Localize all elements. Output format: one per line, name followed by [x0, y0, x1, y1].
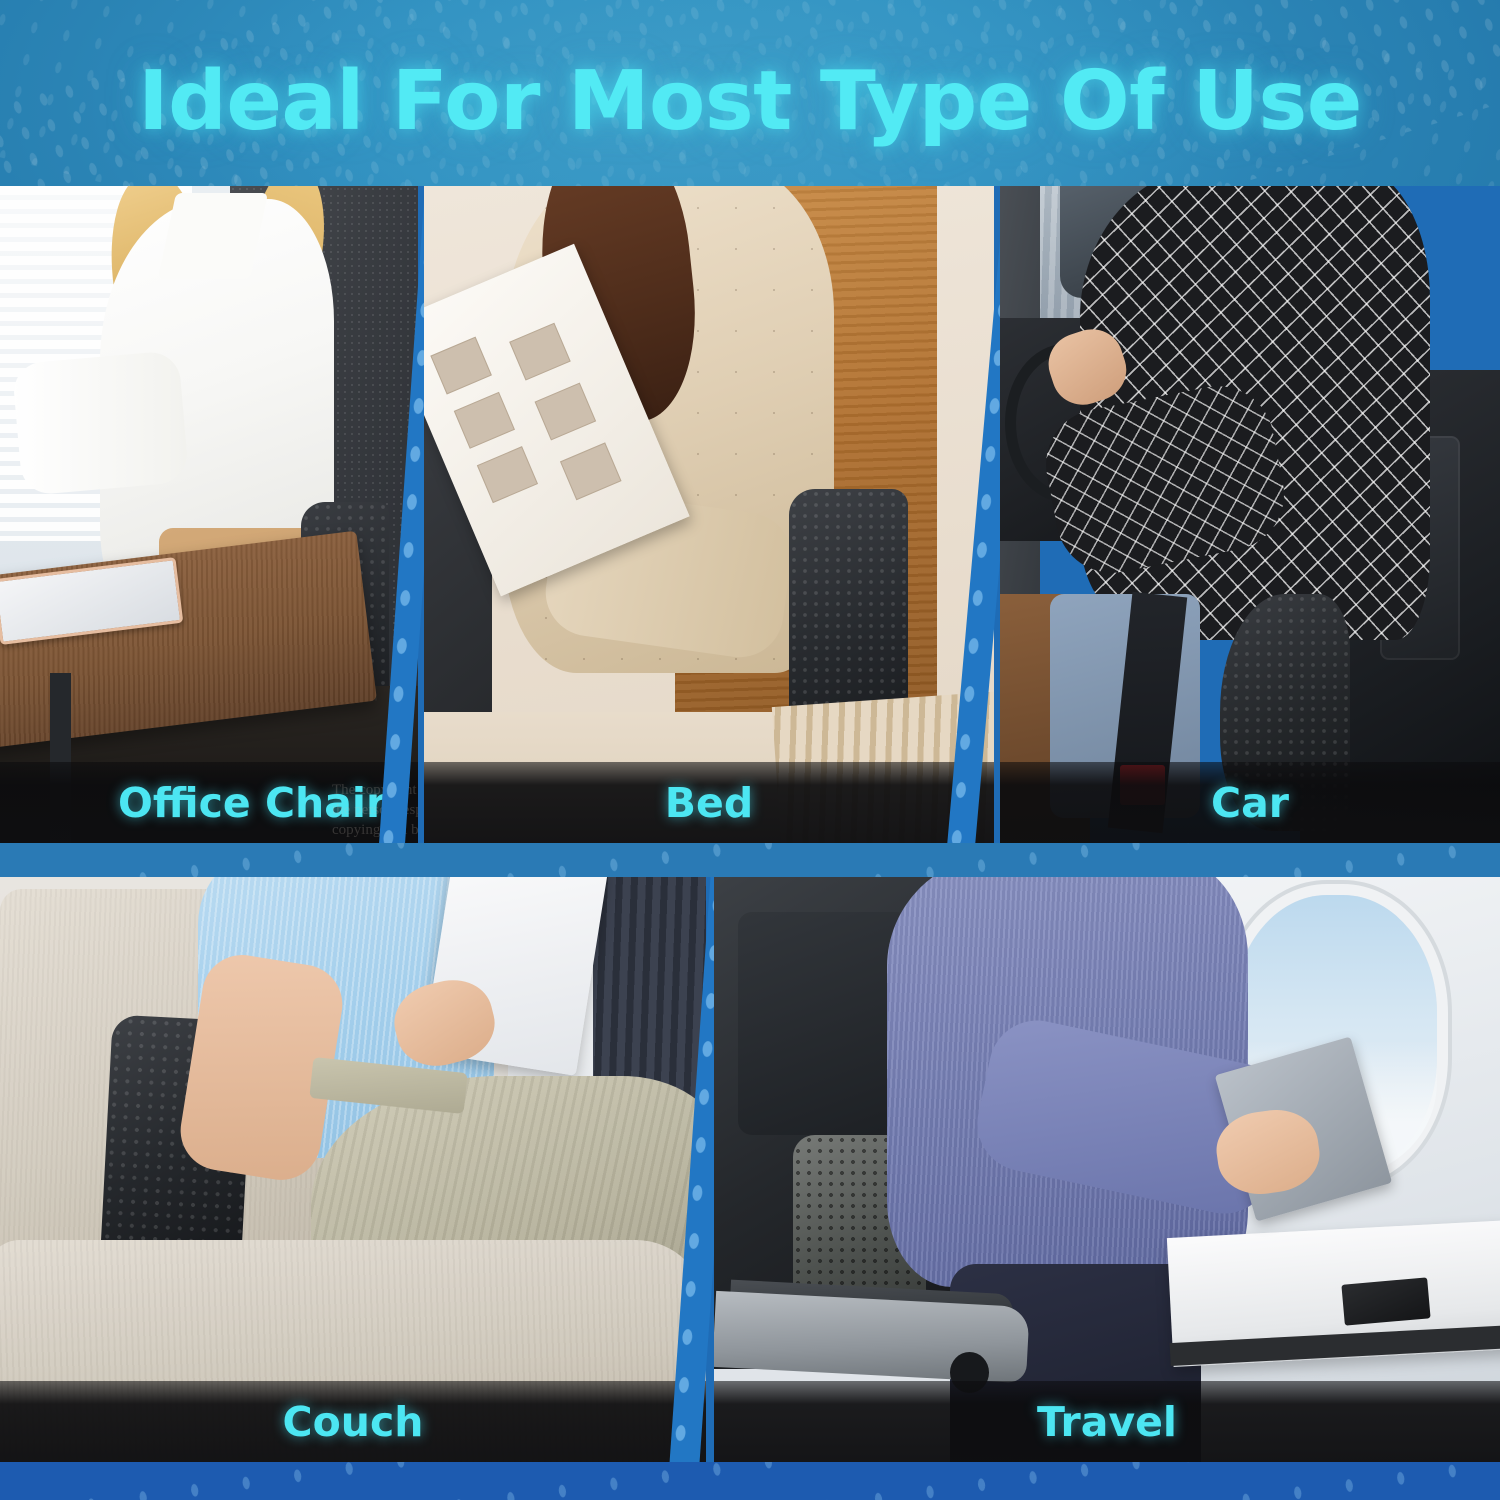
scene-couch	[0, 877, 706, 1463]
divider-band-bottom	[0, 1462, 1500, 1500]
caption-strip-couch: Couch	[0, 1381, 706, 1463]
caption-bed: Bed	[424, 779, 994, 827]
panel-bed[interactable]: Bed	[424, 186, 994, 844]
caption-couch: Couch	[0, 1398, 706, 1446]
scene-travel	[714, 877, 1500, 1463]
infographic-page: Ideal For Most Type Of Use	[0, 0, 1500, 1500]
caption-strip-travel: Travel	[714, 1381, 1500, 1463]
panel-car[interactable]: Car	[1000, 186, 1500, 844]
panel-row-top: Office Chair The copyright belongs to mo…	[0, 186, 1500, 844]
scene-car	[1000, 186, 1500, 844]
header-banner: Ideal For Most Type Of Use	[0, 0, 1500, 186]
divider-band-dots-bottom	[0, 1462, 1500, 1500]
scene-office-chair	[0, 186, 418, 844]
caption-travel: Travel	[714, 1398, 1500, 1446]
left-arm-sleeve	[11, 350, 189, 496]
divider-band-dots-middle	[0, 843, 1500, 877]
caption-office-chair: Office Chair	[0, 779, 418, 827]
caption-strip-office-chair: Office Chair	[0, 762, 418, 844]
panel-office-chair[interactable]: Office Chair The copyright belongs to mo…	[0, 186, 418, 844]
page-title: Ideal For Most Type Of Use	[0, 54, 1500, 149]
phone-on-tray	[1341, 1278, 1431, 1326]
scene-bed	[424, 186, 994, 844]
airplane-seat-panel	[738, 912, 911, 1135]
divider-band-middle	[0, 843, 1500, 877]
blouse-collar	[158, 193, 268, 279]
panel-travel[interactable]: Travel	[714, 877, 1500, 1463]
caption-strip-car: Car	[1000, 762, 1500, 844]
caption-car: Car	[1000, 779, 1500, 827]
panel-couch[interactable]: Couch	[0, 877, 706, 1463]
panel-row-bottom: Couch	[0, 877, 1500, 1463]
caption-strip-bed: Bed	[424, 762, 994, 844]
